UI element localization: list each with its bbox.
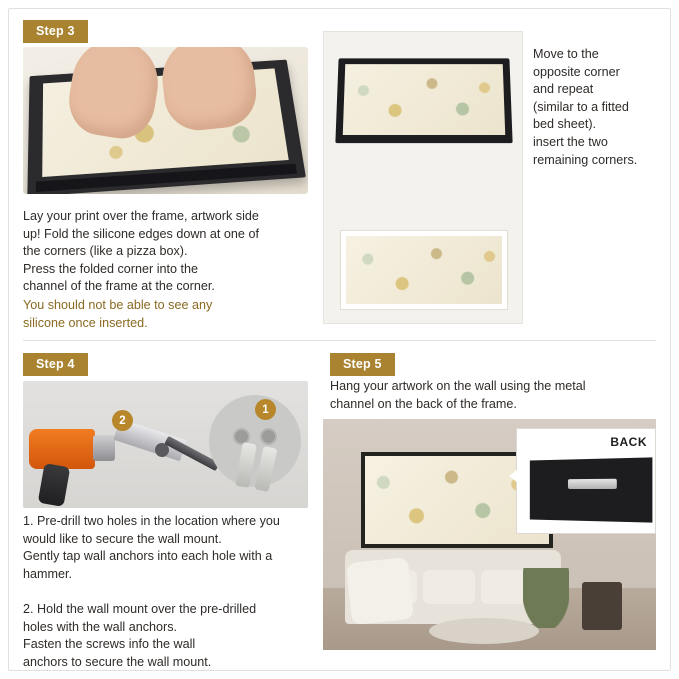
step-3-badge: Step 3 — [23, 20, 88, 43]
step-3-left-text: Lay your print over the frame, artwork s… — [23, 208, 315, 296]
back-label: BACK — [610, 435, 647, 449]
throw-blanket — [346, 557, 414, 625]
step-3-right-text: Move to the opposite corner and repeat (… — [533, 46, 661, 169]
step-4-photo: 1 2 — [23, 381, 308, 508]
step-5-text: Hang your artwork on the wall using the … — [330, 378, 656, 413]
drill-chuck — [93, 435, 115, 461]
instruction-sheet: Step 3 Move to the opposite corner and r… — [0, 0, 679, 679]
frame-back-view — [530, 457, 653, 522]
inset-pointer — [509, 469, 518, 483]
framed-artwork-angled — [335, 58, 512, 143]
callout-marker-1: 1 — [255, 399, 276, 420]
step-4-text: 1. Pre-drill two holes in the location w… — [23, 513, 319, 671]
section-divider-1 — [23, 340, 656, 341]
step-5-badge: Step 5 — [330, 353, 395, 376]
step-4-badge: Step 4 — [23, 353, 88, 376]
floral-artwork — [343, 64, 505, 135]
side-table — [582, 582, 622, 630]
drill-hole — [260, 428, 277, 445]
plant — [523, 568, 569, 628]
step-3-left-photo — [23, 47, 308, 194]
step-3-warning-text: You should not be able to see any silico… — [23, 297, 315, 332]
cushion — [423, 570, 475, 604]
framed-artwork-flat — [340, 230, 508, 310]
power-drill — [29, 429, 95, 469]
frame-back-inset: BACK — [516, 428, 656, 534]
callout-marker-2: 2 — [112, 410, 133, 431]
step-3-right-photo — [323, 31, 523, 324]
floral-artwork — [346, 236, 502, 304]
metal-channel-bracket — [568, 479, 617, 489]
